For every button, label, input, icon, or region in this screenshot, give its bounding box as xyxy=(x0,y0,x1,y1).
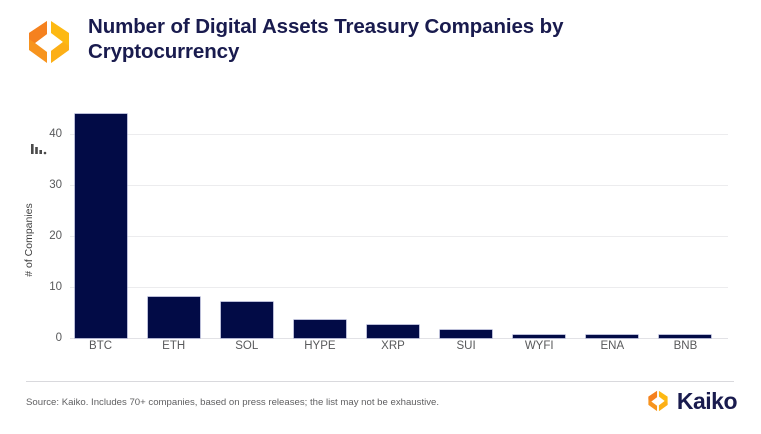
y-axis-ticks: 010203040 xyxy=(26,82,62,372)
x-tick-label: BNB xyxy=(649,340,722,352)
x-tick-label: HYPE xyxy=(283,340,356,352)
kaiko-hexagon-mark-icon xyxy=(646,389,670,413)
chart-header: Number of Digital Assets Treasury Compan… xyxy=(0,0,761,82)
bar xyxy=(367,325,419,338)
bar xyxy=(659,335,711,338)
footer-divider xyxy=(26,381,734,382)
page-title: Number of Digital Assets Treasury Compan… xyxy=(88,14,688,64)
x-tick-label: XRP xyxy=(356,340,429,352)
source-note: Source: Kaiko. Includes 70+ companies, b… xyxy=(26,397,439,408)
bar xyxy=(513,335,565,338)
y-tick-label: 20 xyxy=(36,230,62,242)
x-tick-label: SUI xyxy=(430,340,503,352)
y-tick-label: 0 xyxy=(36,332,62,344)
x-tick-label: ENA xyxy=(576,340,649,352)
bar xyxy=(586,335,638,338)
bar xyxy=(440,330,492,338)
x-tick-label: ETH xyxy=(137,340,210,352)
bar xyxy=(221,302,273,338)
kaiko-hexagon-mark-icon xyxy=(24,18,74,66)
bar xyxy=(294,320,346,338)
x-tick-label: BTC xyxy=(64,340,137,352)
bar xyxy=(148,297,200,338)
x-tick-label: WYFI xyxy=(503,340,576,352)
bar-series xyxy=(70,82,728,372)
bar xyxy=(75,114,127,338)
kaiko-wordmark: Kaiko xyxy=(677,389,737,413)
y-tick-label: 40 xyxy=(36,128,62,140)
chart-plot-area: # of Companies 010203040 BTCETHSOLHYPEXR… xyxy=(0,82,761,372)
y-tick-label: 10 xyxy=(36,281,62,293)
kaiko-logo: Kaiko xyxy=(646,388,737,414)
x-axis-ticks: BTCETHSOLHYPEXRPSUIWYFIENABNB xyxy=(70,340,728,364)
y-tick-label: 30 xyxy=(36,179,62,191)
x-tick-label: SOL xyxy=(210,340,283,352)
